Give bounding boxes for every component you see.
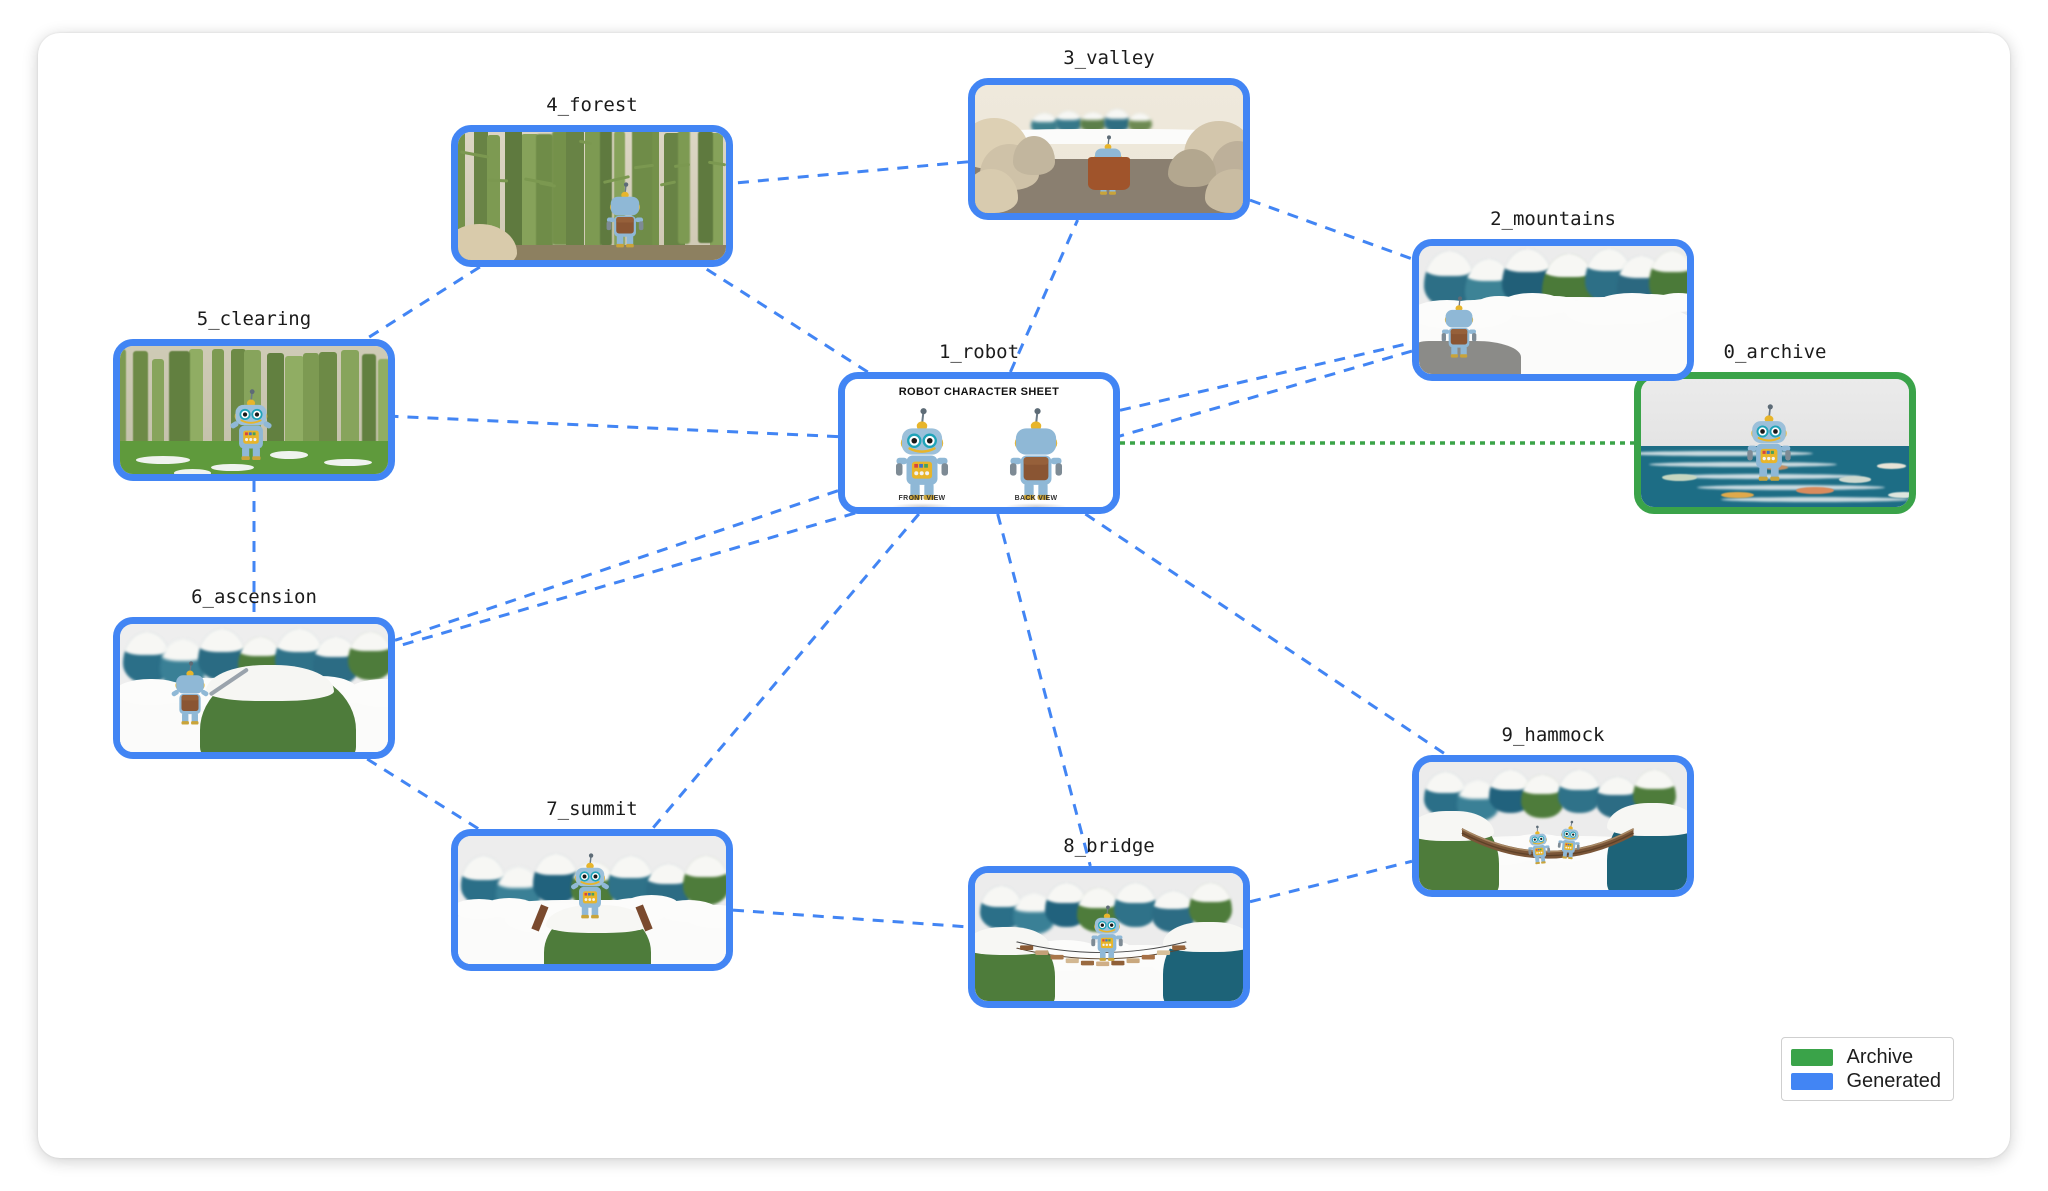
node-thumbnail bbox=[975, 873, 1243, 1001]
graph-edge bbox=[1120, 343, 1412, 411]
node-thumbnail bbox=[1641, 379, 1909, 507]
graph-node[interactable]: 1_robotROBOT CHARACTER SHEETFRONT VIEWBA… bbox=[838, 372, 1120, 514]
node-frame[interactable] bbox=[1634, 372, 1916, 514]
graph-node[interactable]: 5_clearing bbox=[113, 339, 395, 481]
node-thumbnail bbox=[1419, 246, 1687, 374]
legend-swatch-archive bbox=[1791, 1049, 1833, 1066]
node-label: 6_ascension bbox=[113, 586, 395, 608]
node-thumbnail bbox=[975, 85, 1243, 213]
node-label: 1_robot bbox=[838, 341, 1120, 363]
node-frame[interactable] bbox=[1412, 755, 1694, 897]
graph-node[interactable]: 6_ascension bbox=[113, 617, 395, 759]
node-frame[interactable] bbox=[451, 829, 733, 971]
legend-swatch-generated bbox=[1791, 1073, 1833, 1090]
graph-edge bbox=[1250, 861, 1412, 902]
node-frame[interactable] bbox=[968, 866, 1250, 1008]
node-label: 2_mountains bbox=[1412, 208, 1694, 230]
legend-item: Generated bbox=[1791, 1069, 1941, 1093]
graph-node[interactable]: 9_hammock bbox=[1412, 755, 1694, 897]
graph-edge bbox=[1250, 200, 1412, 259]
node-thumbnail bbox=[120, 346, 388, 474]
graph-canvas-card: 0_archive1_robotROBOT CHARACTER SHEETFRO… bbox=[38, 33, 2010, 1158]
node-thumbnail bbox=[120, 624, 388, 752]
node-thumbnail bbox=[1419, 762, 1687, 890]
node-label: 7_summit bbox=[451, 798, 733, 820]
node-label: 5_clearing bbox=[113, 308, 395, 330]
graph-edge bbox=[733, 162, 968, 183]
node-frame[interactable]: ROBOT CHARACTER SHEETFRONT VIEWBACK VIEW bbox=[838, 372, 1120, 514]
node-frame[interactable] bbox=[113, 339, 395, 481]
node-frame[interactable] bbox=[113, 617, 395, 759]
graph-node[interactable]: 8_bridge bbox=[968, 866, 1250, 1008]
node-label: 3_valley bbox=[968, 47, 1250, 69]
node-thumbnail: ROBOT CHARACTER SHEETFRONT VIEWBACK VIEW bbox=[845, 379, 1113, 507]
graph-edge bbox=[395, 491, 838, 641]
node-frame[interactable] bbox=[1412, 239, 1694, 381]
graph-edge bbox=[998, 514, 1091, 866]
node-frame[interactable] bbox=[968, 78, 1250, 220]
legend: Archive Generated bbox=[1781, 1037, 1954, 1101]
graph-node[interactable]: 0_archive bbox=[1634, 372, 1916, 514]
node-thumbnail bbox=[458, 132, 726, 260]
graph-node[interactable]: 2_mountains bbox=[1412, 239, 1694, 381]
graph-edge bbox=[1085, 514, 1446, 755]
graph-edge bbox=[395, 416, 838, 436]
back-view-caption: BACK VIEW bbox=[989, 495, 1083, 502]
legend-label-generated: Generated bbox=[1846, 1070, 1941, 1093]
node-label: 8_bridge bbox=[968, 835, 1250, 857]
legend-item: Archive bbox=[1791, 1045, 1941, 1069]
graph-layer: 0_archive1_robotROBOT CHARACTER SHEETFRO… bbox=[38, 33, 2010, 1158]
legend-label-archive: Archive bbox=[1846, 1046, 1913, 1069]
node-thumbnail bbox=[458, 836, 726, 964]
front-view-caption: FRONT VIEW bbox=[875, 495, 969, 502]
character-sheet-title: ROBOT CHARACTER SHEET bbox=[845, 386, 1113, 398]
graph-node[interactable]: 7_summit bbox=[451, 829, 733, 971]
node-label: 4_forest bbox=[451, 94, 733, 116]
graph-node[interactable]: 4_forest bbox=[451, 125, 733, 267]
node-label: 9_hammock bbox=[1412, 724, 1694, 746]
node-frame[interactable] bbox=[451, 125, 733, 267]
graph-node[interactable]: 3_valley bbox=[968, 78, 1250, 220]
graph-edge bbox=[733, 910, 968, 927]
